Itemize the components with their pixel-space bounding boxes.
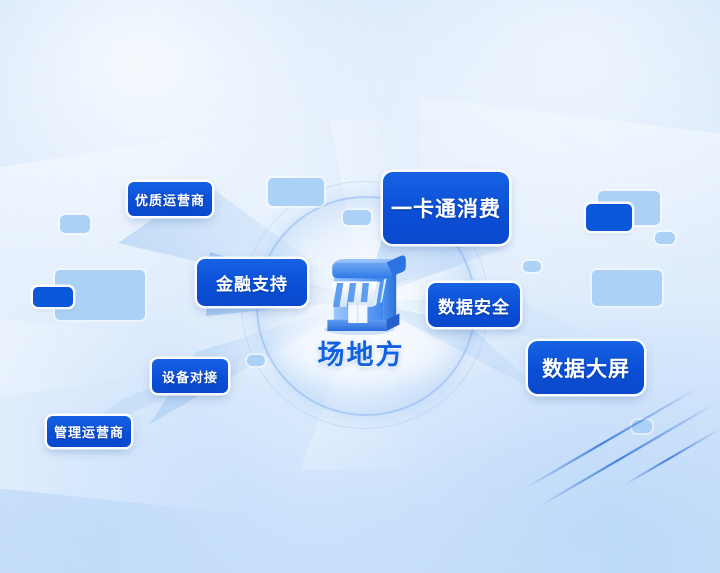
hub-title: 场地方 xyxy=(283,333,439,372)
node-label-guanli-yunyingshang[interactable]: 管理运营商 xyxy=(47,416,131,447)
node-label-shuju-daping[interactable]: 数据大屏 xyxy=(528,341,644,394)
storefront-icon xyxy=(313,243,409,339)
node-label-shuju-anquan[interactable]: 数据安全 xyxy=(428,283,520,327)
infographic-canvas: 场地方 优质运营商金融支持设备对接管理运营商一卡通消费数据安全数据大屏 xyxy=(0,0,720,573)
decor-rect-light xyxy=(343,210,371,225)
decor-rect-light xyxy=(268,178,324,206)
decor-rect-light xyxy=(655,232,675,244)
decor-rect-light xyxy=(247,355,265,366)
decor-rect-light xyxy=(632,420,652,433)
decor-rect-light xyxy=(60,215,90,233)
decor-rect-solid xyxy=(586,204,632,231)
node-label-jinrong-zhichi[interactable]: 金融支持 xyxy=(197,259,307,306)
speed-lines xyxy=(520,373,720,513)
decor-rect-solid xyxy=(33,287,73,307)
decor-rect-light xyxy=(592,270,662,306)
node-label-youzhi-yunyingshang[interactable]: 优质运营商 xyxy=(128,182,212,216)
decor-rect-light xyxy=(523,261,541,272)
node-label-yikatong-xiaofei[interactable]: 一卡通消费 xyxy=(383,172,509,244)
background-plane-lower-left xyxy=(0,314,260,516)
node-label-shebei-duijie[interactable]: 设备对接 xyxy=(152,359,228,393)
